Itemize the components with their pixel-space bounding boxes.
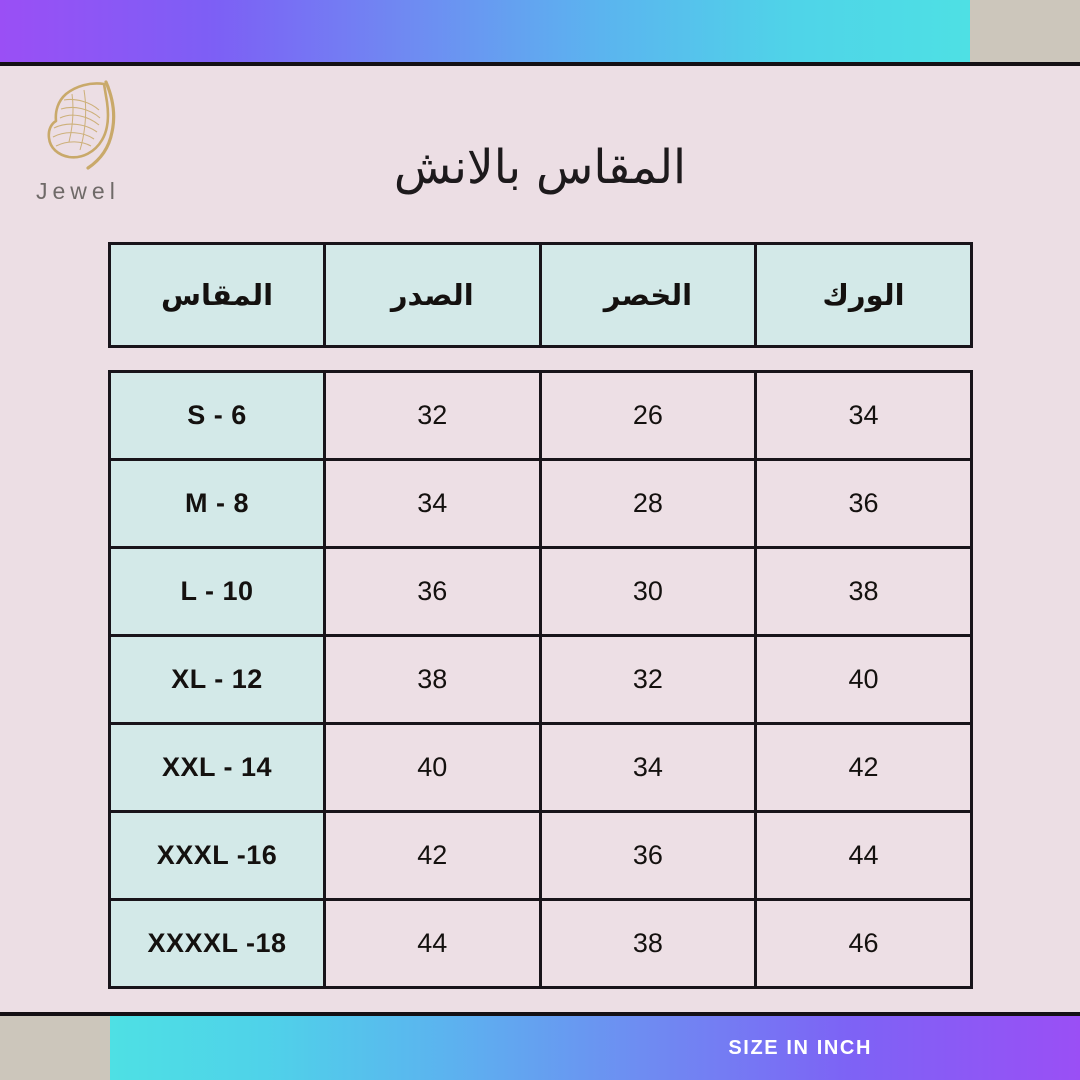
cell-waist: 26 [540, 372, 756, 460]
table-row: XL - 12 38 32 40 [110, 636, 972, 724]
cell-size: S - 6 [110, 372, 325, 460]
cell-size: XXL - 14 [110, 724, 325, 812]
top-banner-filler [970, 0, 1080, 62]
table-row: L - 10 36 30 38 [110, 548, 972, 636]
cell-waist: 38 [540, 900, 756, 988]
table-header-row: المقاس الصدر الخصر الورك [110, 244, 972, 347]
size-chart-body-table: S - 6 32 26 34 M - 8 34 28 36 L - 10 36 … [108, 370, 973, 989]
cell-waist: 36 [540, 812, 756, 900]
cell-chest: 44 [325, 900, 541, 988]
cell-hip: 40 [756, 636, 972, 724]
cell-hip: 46 [756, 900, 972, 988]
cell-chest: 36 [325, 548, 541, 636]
cell-hip: 36 [756, 460, 972, 548]
column-header-size: المقاس [110, 244, 325, 347]
cell-size: XXXXL -18 [110, 900, 325, 988]
cell-chest: 34 [325, 460, 541, 548]
cell-hip: 42 [756, 724, 972, 812]
cell-size: L - 10 [110, 548, 325, 636]
size-chart-header-table: المقاس الصدر الخصر الورك [108, 242, 973, 348]
cell-chest: 42 [325, 812, 541, 900]
table-row: XXXL -16 42 36 44 [110, 812, 972, 900]
cell-waist: 34 [540, 724, 756, 812]
page-title: المقاس بالانش [0, 140, 1080, 195]
cell-hip: 38 [756, 548, 972, 636]
size-chart-page: Jewel المقاس بالانش المقاس الصدر الخصر ا… [0, 0, 1080, 1080]
cell-waist: 30 [540, 548, 756, 636]
cell-size: XXXL -16 [110, 812, 325, 900]
table-row: M - 8 34 28 36 [110, 460, 972, 548]
cell-chest: 38 [325, 636, 541, 724]
cell-size: XL - 12 [110, 636, 325, 724]
column-header-chest: الصدر [325, 244, 541, 347]
cell-chest: 32 [325, 372, 541, 460]
cell-hip: 44 [756, 812, 972, 900]
top-gradient-banner [0, 0, 970, 62]
column-header-hip: الورك [756, 244, 972, 347]
cell-waist: 32 [540, 636, 756, 724]
table-row: S - 6 32 26 34 [110, 372, 972, 460]
table-row: XXXXL -18 44 38 46 [110, 900, 972, 988]
table-row: XXL - 14 40 34 42 [110, 724, 972, 812]
column-header-waist: الخصر [540, 244, 756, 347]
cell-chest: 40 [325, 724, 541, 812]
top-divider-rule [0, 62, 1080, 66]
cell-hip: 34 [756, 372, 972, 460]
cell-waist: 28 [540, 460, 756, 548]
cell-size: M - 8 [110, 460, 325, 548]
banner-caption: SIZE IN INCH [0, 1016, 970, 1080]
